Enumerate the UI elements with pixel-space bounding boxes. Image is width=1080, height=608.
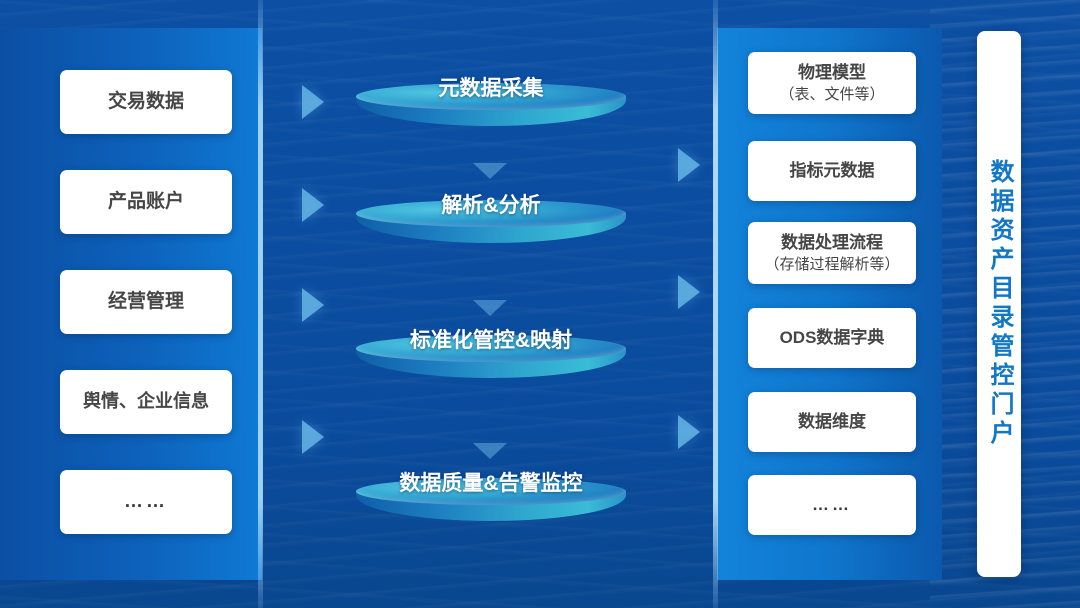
flow-arrow-right-icon bbox=[678, 275, 700, 309]
process-stage-label: 标准化管控&映射 bbox=[356, 324, 626, 354]
list-item[interactable]: 产品账户 bbox=[60, 170, 232, 234]
flow-arrow-down-icon bbox=[473, 163, 507, 179]
list-item[interactable]: 物理模型 （表、文件等） bbox=[748, 52, 916, 114]
right-card-title: ODS数据字典 bbox=[780, 327, 885, 349]
right-card-title: 指标元数据 bbox=[790, 160, 875, 182]
process-stage-label: 元数据采集 bbox=[356, 72, 626, 102]
diagram-canvas: 交易数据 产品账户 经营管理 舆情、企业信息 …… 元数据采集 解析&分析 标准… bbox=[0, 0, 1080, 608]
portal-strip[interactable]: 数据资产目录管控门户 bbox=[977, 31, 1021, 577]
flow-arrow-right-icon bbox=[678, 415, 700, 449]
list-item[interactable]: 交易数据 bbox=[60, 70, 232, 134]
left-card-label: 经营管理 bbox=[108, 290, 184, 314]
list-item[interactable]: 指标元数据 bbox=[748, 141, 916, 201]
list-item[interactable]: ODS数据字典 bbox=[748, 308, 916, 368]
left-column-divider bbox=[258, 0, 263, 608]
right-card-title: 数据处理流程 bbox=[781, 232, 883, 254]
list-item[interactable]: 经营管理 bbox=[60, 270, 232, 334]
left-card-label: 产品账户 bbox=[108, 190, 184, 214]
list-item[interactable]: 数据维度 bbox=[748, 392, 916, 452]
list-item-ellipsis[interactable]: …… bbox=[748, 475, 916, 535]
flow-arrow-right-icon bbox=[302, 420, 324, 454]
flow-arrow-right-icon bbox=[302, 288, 324, 322]
flow-arrow-right-icon bbox=[302, 85, 324, 119]
left-card-label: 交易数据 bbox=[108, 90, 184, 114]
right-column-divider bbox=[713, 0, 718, 608]
flow-arrow-down-icon bbox=[473, 443, 507, 459]
left-card-label: …… bbox=[124, 490, 168, 514]
right-card-title: 物理模型 bbox=[798, 62, 866, 84]
right-card-subtitle: （表、文件等） bbox=[779, 85, 884, 104]
left-card-label: 舆情、企业信息 bbox=[83, 390, 209, 413]
process-stage-label: 解析&分析 bbox=[356, 189, 626, 219]
right-card-title: …… bbox=[812, 494, 852, 516]
portal-label: 数据资产目录管控门户 bbox=[987, 159, 1011, 449]
list-item[interactable]: 舆情、企业信息 bbox=[60, 370, 232, 434]
list-item[interactable]: 数据处理流程 （存储过程解析等） bbox=[748, 222, 916, 284]
flow-arrow-right-icon bbox=[678, 148, 700, 182]
right-card-title: 数据维度 bbox=[798, 411, 866, 433]
flow-arrow-down-icon bbox=[473, 300, 507, 316]
flow-arrow-right-icon bbox=[302, 188, 324, 222]
right-card-subtitle: （存储过程解析等） bbox=[764, 255, 899, 274]
process-stage-label: 数据质量&告警监控 bbox=[356, 467, 626, 497]
list-item-ellipsis[interactable]: …… bbox=[60, 470, 232, 534]
